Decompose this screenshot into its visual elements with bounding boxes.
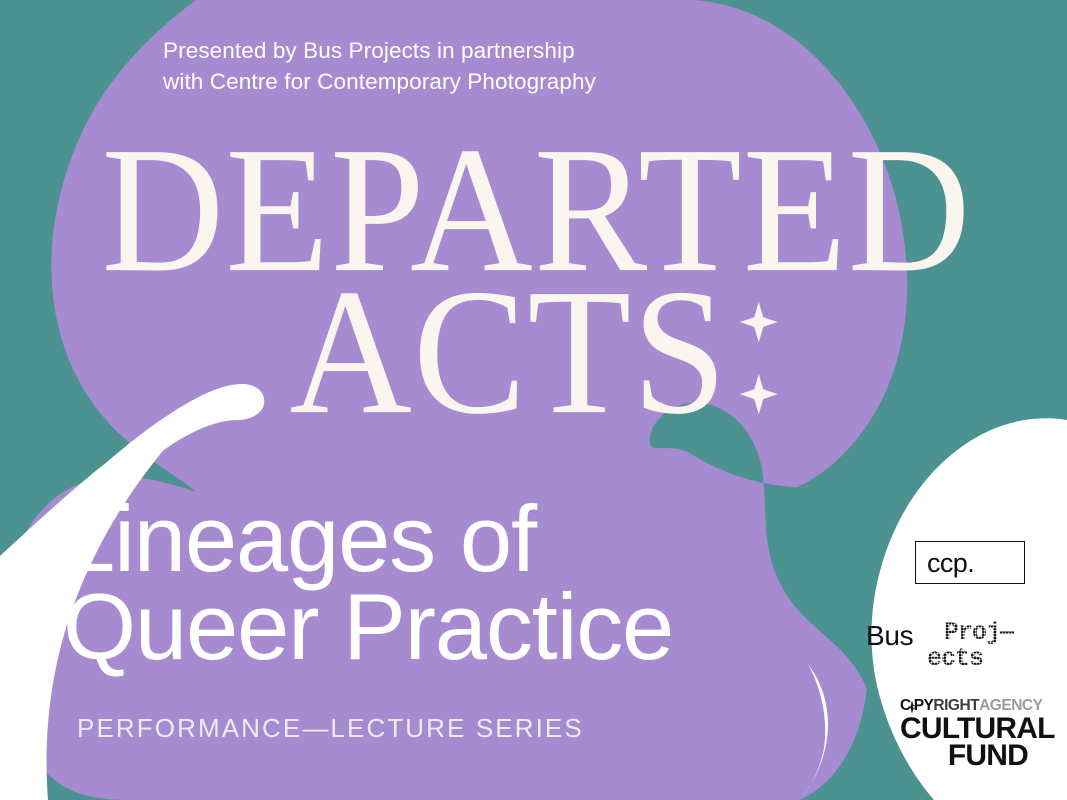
poster-canvas: Presented by Bus Projects in partnership… <box>0 0 1067 800</box>
copyright-symbol-icon <box>911 701 913 713</box>
sparkle-colon-icon <box>740 268 778 414</box>
logo-ca-cultural: CULTURAL <box>900 715 1030 743</box>
subtitle: Lineages of Queer Practice <box>63 495 763 672</box>
title-word-acts: ACTS <box>289 268 728 437</box>
title-block: DEPARTED ACTS <box>0 126 1067 428</box>
title-line-acts: ACTS <box>0 268 1067 437</box>
logo-bus-word: Bus <box>866 622 913 650</box>
credit-line: Presented by Bus Projects in partnership… <box>163 36 763 97</box>
logo-projects-line2: ects <box>927 646 983 671</box>
sparkle-bottom-icon <box>740 374 778 414</box>
logo-ccp: ccp. <box>915 541 1025 584</box>
content-layer: Presented by Bus Projects in partnership… <box>0 0 1067 800</box>
logo-projects-line1: Proj— <box>944 620 1014 645</box>
logo-bus-projects: Bus Proj— ects <box>866 618 1041 676</box>
series-label: PERFORMANCE—LECTURE SERIES <box>77 713 584 744</box>
logo-copyright-agency: C PY RIGHT AGENCY CULTURAL FUND <box>900 698 1030 770</box>
sparkle-top-icon <box>740 302 778 342</box>
logo-ca-fund: FUND <box>900 742 1030 770</box>
logo-ccp-text: ccp. <box>916 550 974 577</box>
